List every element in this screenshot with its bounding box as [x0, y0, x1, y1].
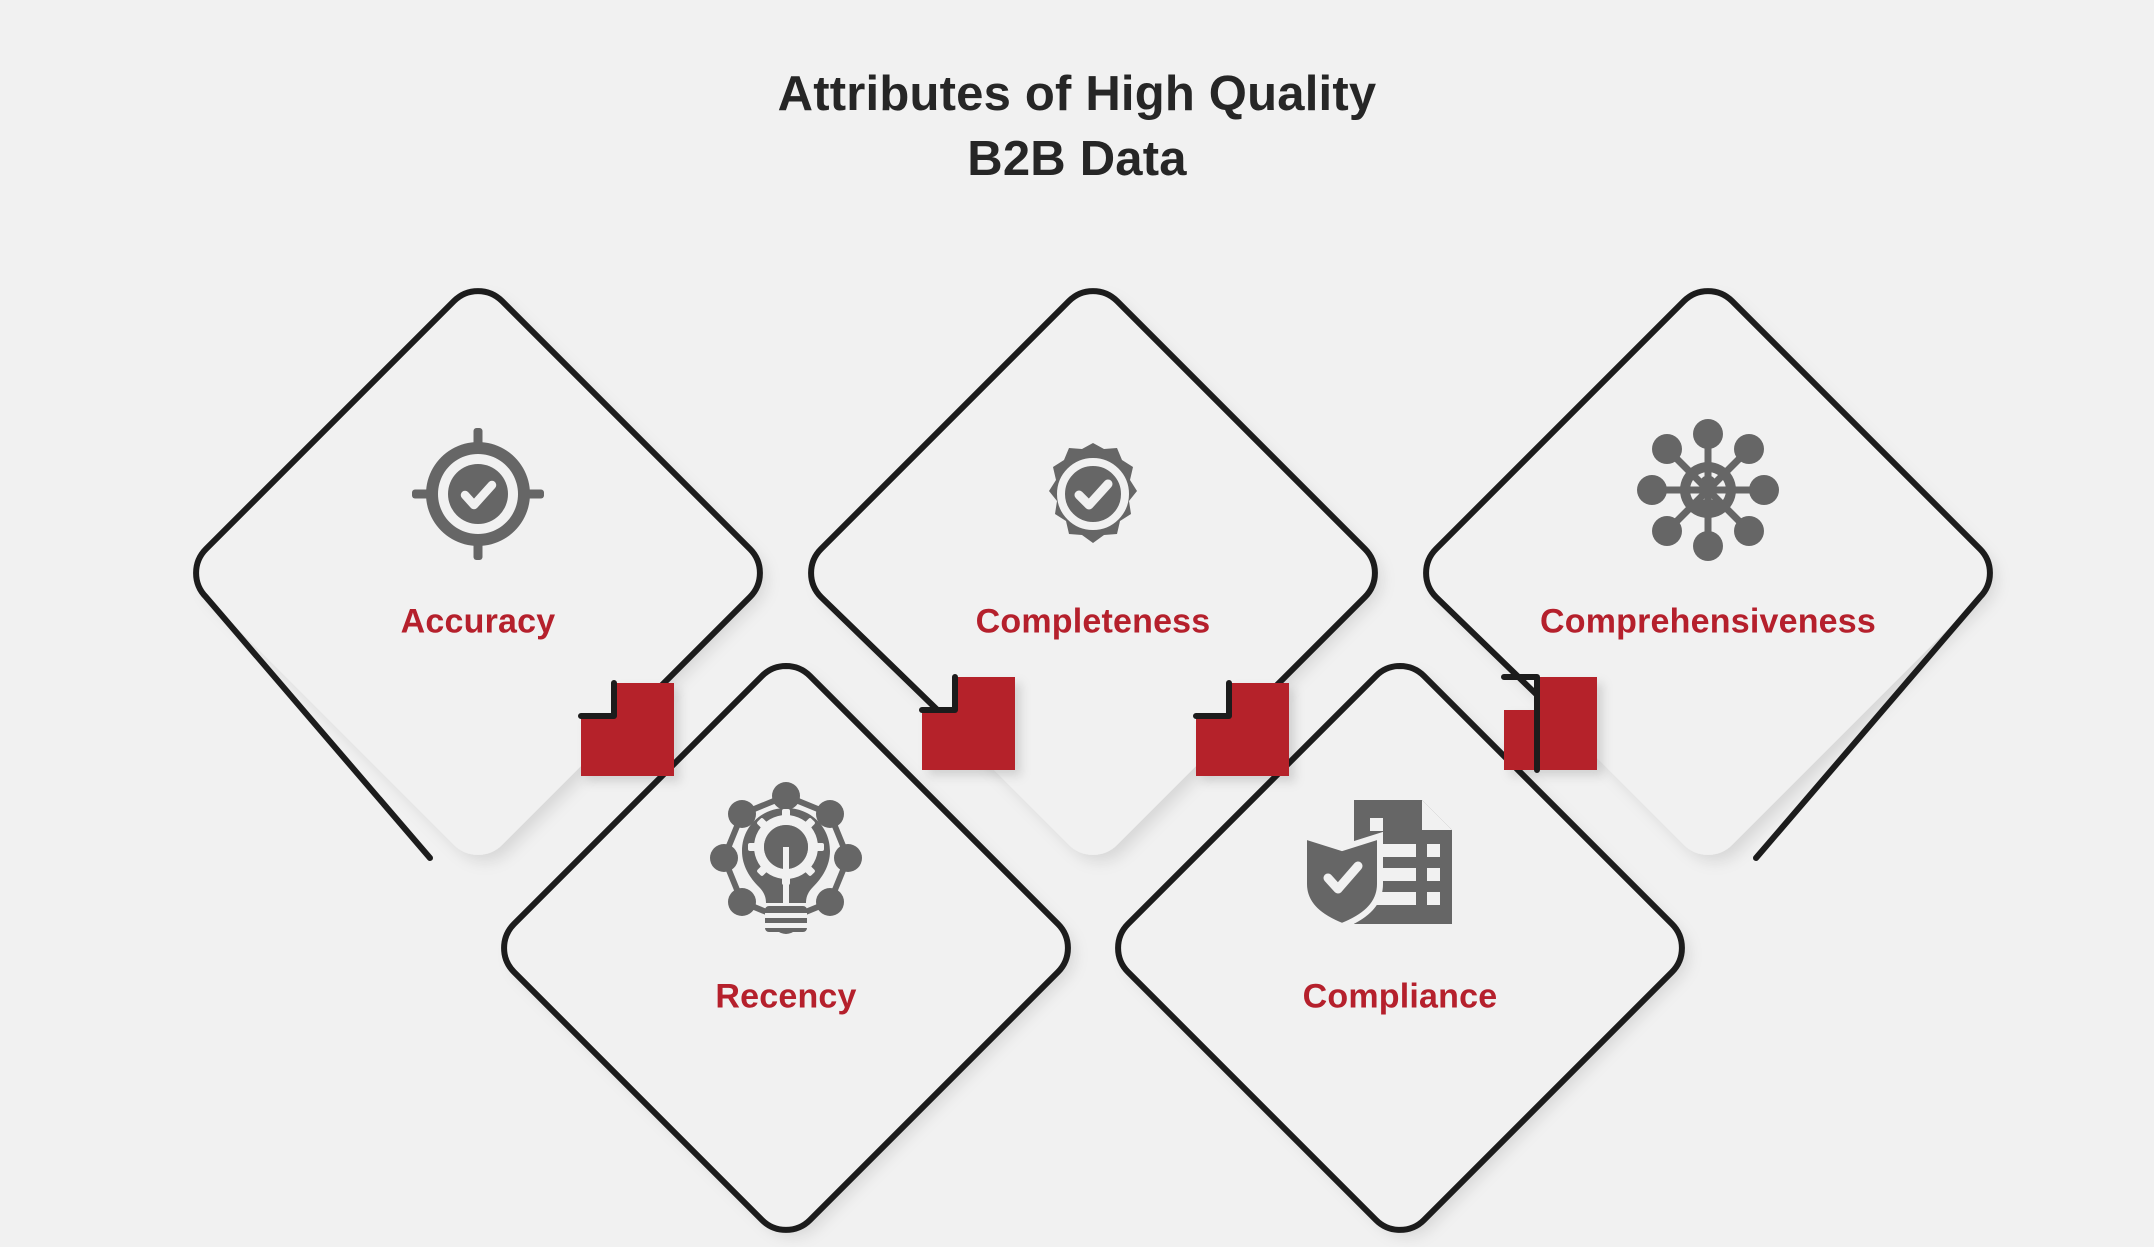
lightbulb-gear-network-icon	[710, 782, 862, 934]
node-label-recency: Recency	[715, 978, 856, 1017]
node-label-comprehensiveness: Comprehensiveness	[1540, 603, 1876, 642]
node-label-accuracy: Accuracy	[401, 603, 556, 642]
connector-compliance-comprehensiveness	[1504, 677, 1597, 770]
network-person-hub-icon	[1637, 419, 1779, 561]
infographic-canvas: Attributes of High Quality B2B Data	[0, 0, 2154, 1247]
node-label-compliance: Compliance	[1303, 978, 1498, 1017]
node-label-completeness: Completeness	[976, 603, 1211, 642]
